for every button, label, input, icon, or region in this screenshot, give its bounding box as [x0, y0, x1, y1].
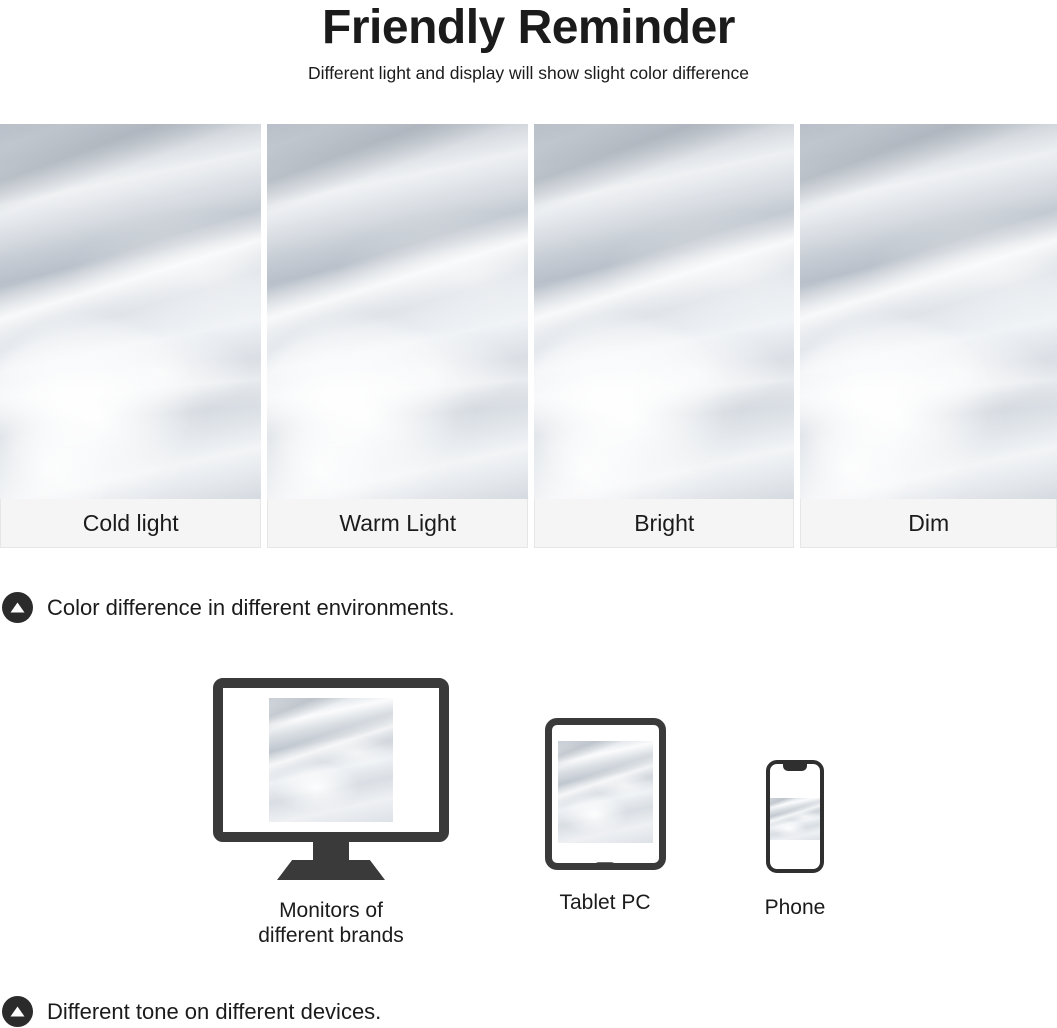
fabric-photo [267, 124, 528, 499]
phone-icon [766, 760, 824, 873]
fabric-photo [0, 124, 261, 499]
phone-screen-image [770, 798, 820, 840]
fabric-photo [800, 124, 1057, 499]
device-label: Tablet PC [490, 890, 720, 915]
triangle-up-circle-icon [2, 996, 33, 1027]
swatch-label-text: Bright [634, 510, 694, 537]
tablet-screen-image [558, 741, 653, 843]
device-label: Phone [700, 895, 890, 920]
swatch-dim: Dim [800, 124, 1057, 548]
device-phone: Phone [700, 760, 890, 920]
monitor-screen-image [269, 698, 393, 822]
swatch-label: Dim [800, 499, 1057, 548]
tablet-home-button-icon [595, 862, 615, 869]
satin-fabric-texture [534, 124, 795, 499]
satin-fabric-texture [267, 124, 528, 499]
swatch-label-text: Dim [908, 510, 949, 537]
satin-fabric-texture [800, 124, 1057, 499]
phone-notch-icon [783, 764, 807, 771]
device-tablet: Tablet PC [490, 718, 720, 915]
satin-fabric-texture [0, 124, 261, 499]
swatch-label: Cold light [0, 499, 261, 548]
triangle-up-circle-icon [2, 592, 33, 623]
page-header: Friendly Reminder Different light and di… [0, 0, 1057, 84]
swatch-label-text: Warm Light [339, 510, 456, 537]
device-comparison-row: Monitors of different brands Tablet PC P… [0, 660, 1057, 970]
swatch-cold-light: Cold light [0, 124, 261, 548]
swatch-label-text: Cold light [83, 510, 179, 537]
monitor-neck [313, 842, 349, 860]
note-device-tone: Different tone on different devices. [2, 996, 381, 1027]
phone-wrapper [766, 760, 824, 873]
satin-fabric-texture [558, 741, 653, 843]
fabric-photo [534, 124, 795, 499]
monitor-icon [213, 678, 449, 842]
note-color-difference: Color difference in different environmen… [2, 592, 455, 623]
note-text: Color difference in different environmen… [47, 594, 455, 622]
device-monitor: Monitors of different brands [196, 678, 466, 948]
monitor-base [277, 860, 385, 880]
tablet-icon [545, 718, 666, 870]
lighting-comparison-strip: Cold light Warm Light Bright Dim [0, 124, 1057, 548]
device-label: Monitors of different brands [196, 898, 466, 948]
note-text: Different tone on different devices. [47, 998, 381, 1026]
page-title: Friendly Reminder [0, 0, 1057, 56]
swatch-label: Warm Light [267, 499, 528, 548]
swatch-bright: Bright [534, 124, 795, 548]
page-subtitle: Different light and display will show sl… [0, 56, 1057, 84]
swatch-label: Bright [534, 499, 795, 548]
satin-fabric-texture [269, 698, 393, 822]
satin-fabric-texture [770, 798, 820, 840]
swatch-warm-light: Warm Light [267, 124, 528, 548]
